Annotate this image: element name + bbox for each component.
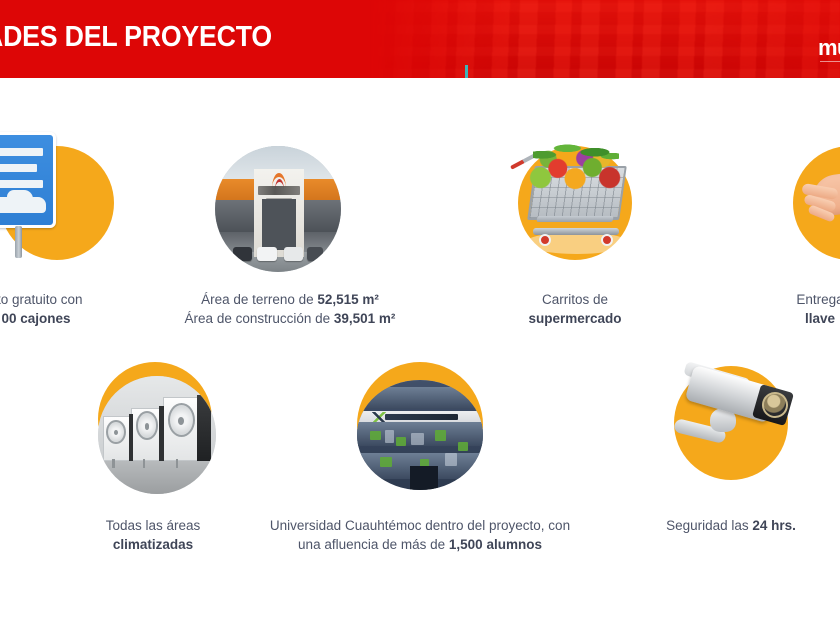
university-building-photo [357,380,483,490]
hand-with-keys-icon [798,158,840,268]
text-cursor-caret [465,65,468,78]
brand-logo-rule [820,61,840,62]
caption-line-2: supermercado [528,311,621,326]
feature-area-caption: Área de terreno de 52,515 m² Área de con… [150,290,430,328]
ac-unit-side [197,395,211,461]
leafy-greens [533,134,619,160]
cart-wheel [539,234,551,246]
ac-unit-side [129,414,134,461]
security-camera-icon [664,352,804,482]
caption-line-1-value: 24 hrs. [752,518,796,533]
parked-car [233,247,252,261]
feature-climate-caption: Todas las áreas climatizadas [38,516,268,554]
building-illustration [215,146,341,272]
ac-unit-side [159,406,164,461]
caption-line-2-prefix: Área de construcción de [185,311,334,326]
shopping-cart-icon [503,128,647,266]
green-panel [458,442,468,452]
green-panel [370,431,381,441]
ac-fan [136,411,158,439]
cart-leg [536,216,613,222]
caption-line-1: Universidad Cuauhtémoc dentro del proyec… [260,516,580,535]
sign-bar [0,148,43,156]
ac-illustration [98,376,216,494]
caption-line-2: 00 cajones [1,311,70,326]
ac-leg [176,459,178,468]
caption-line-2-prefix: una afluencia de más de [298,537,449,552]
caption-line-1: Carritos de [455,290,695,309]
page-title: ADES DEL PROYECTO [0,20,272,54]
ac-leg [143,459,145,468]
shopping-center-photo [215,146,341,272]
facade-floor [357,387,483,409]
caption-line-2-value: 39,501 m² [334,311,396,326]
cuauhtemoc-wordmark [385,414,458,421]
window-panel [445,453,456,466]
university-illustration [357,380,483,490]
feature-row-bottom: Todas las áreas climatizadas [0,358,840,563]
ac-leg [112,459,114,468]
caption-line-1: nto gratuito con [0,290,136,309]
parked-car [284,247,303,261]
ac-fan [168,403,195,437]
building-entrance [410,466,438,490]
feature-security-caption: Seguridad las 24 hrs. [622,516,840,535]
parking-sign-icon [0,132,56,252]
feature-university-caption: Universidad Cuauhtémoc dentro del proyec… [260,516,580,554]
sign-bar [0,180,43,188]
parked-car [307,247,323,261]
brand-logo-multicomercial: multicomercial [818,38,840,64]
multicomercial-wordmark [258,186,300,195]
cart-wheel [601,234,613,246]
window-panel [385,430,394,443]
floor [98,461,216,494]
caption-line-1-value: 52,515 m² [317,292,379,307]
slide-root: ADES DEL PROYECTO multicomercial [0,0,840,630]
caption-line-2-value: 1,500 alumnos [449,537,542,552]
sign-bar [0,164,37,172]
caption-line-1-prefix: Seguridad las [666,518,752,533]
header-background-photo [370,0,840,78]
green-panel [396,437,406,446]
window-panel [411,433,424,445]
green-panel [435,430,446,441]
brand-logo-text: multicomercial [818,38,840,60]
entrance-opening [262,199,296,250]
feature-carts-caption: Carritos de supermercado [455,290,695,328]
caption-line-2: climatizadas [113,537,193,552]
caption-line-1: Entrega [720,290,840,309]
header-banner: ADES DEL PROYECTO multicomercial [0,0,840,78]
feature-delivery-keys-caption: Entrega llave [720,290,840,328]
green-panel [380,457,393,467]
caption-line-2: llave [805,311,835,326]
parking-sign-panel [0,132,56,228]
parked-car [257,247,277,261]
caption-line-1: Todas las áreas [38,516,268,535]
sign-pole [15,226,22,258]
caption-line-1-prefix: Área de terreno de [201,292,317,307]
feature-row-top: nto gratuito con 00 cajones [0,132,840,332]
feature-parking-caption: nto gratuito con 00 cajones [0,290,136,328]
entrance-tower [254,169,304,257]
air-conditioning-units-photo [98,376,216,494]
car-glyph [0,197,46,213]
